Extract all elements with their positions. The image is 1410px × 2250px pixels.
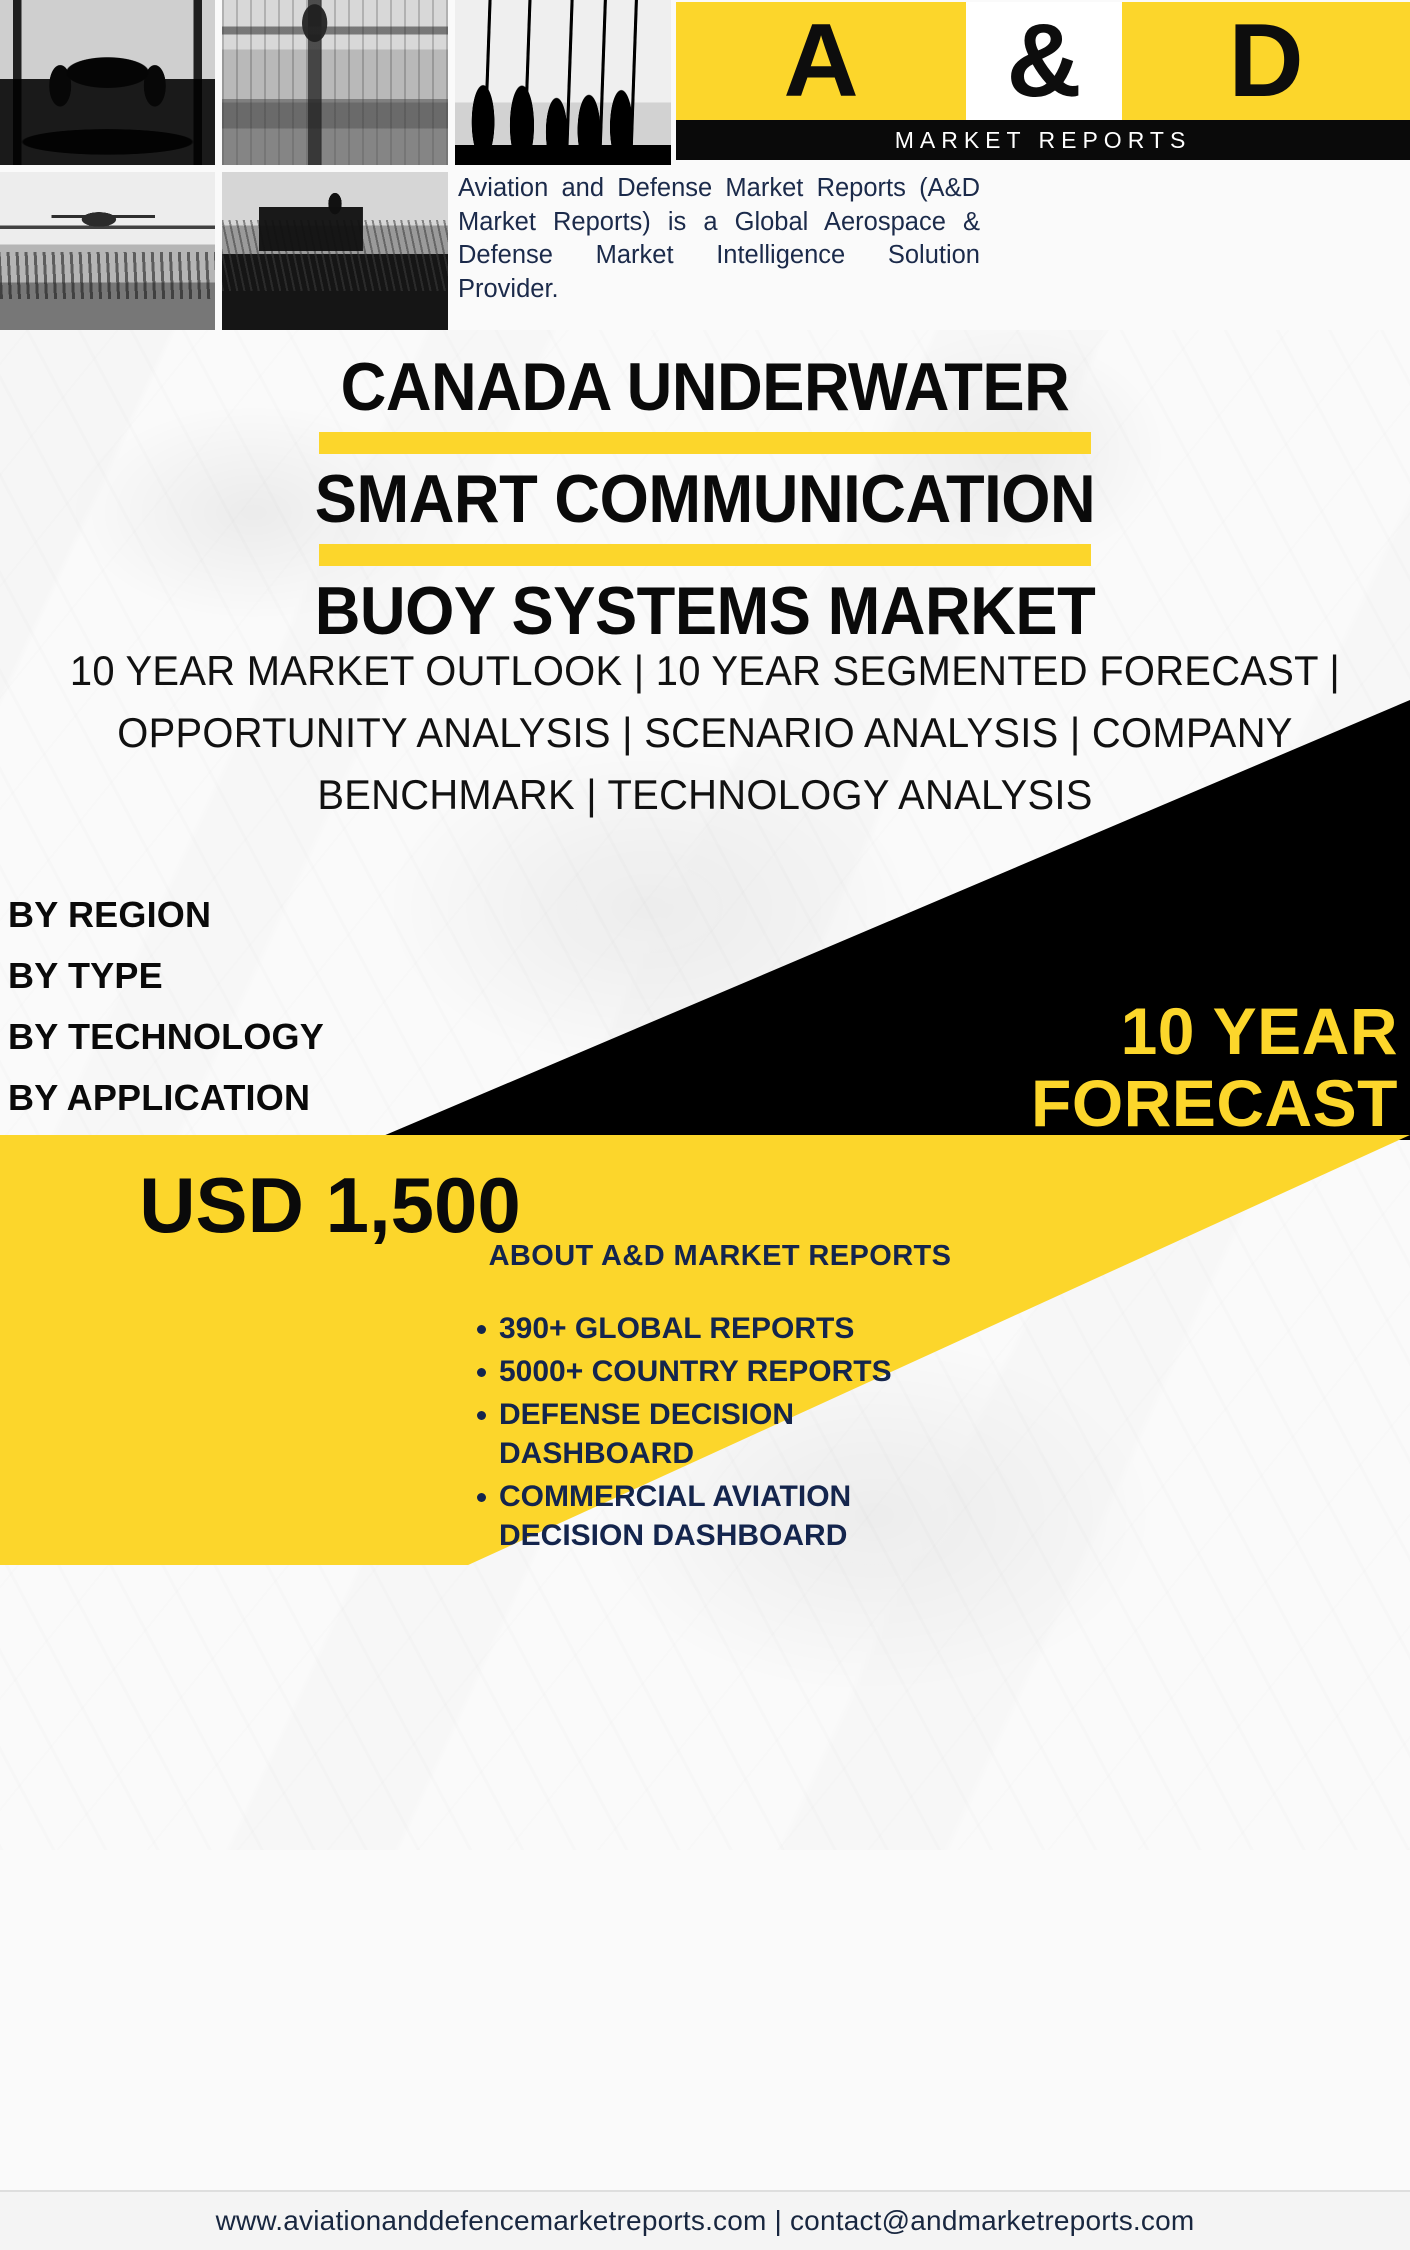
about-bullet-list: 390+ GLOBAL REPORTS 5000+ COUNTRY REPORT… bbox=[455, 1309, 985, 1555]
fighter-jet-photo bbox=[0, 0, 215, 165]
segment-item-region: BY REGION bbox=[8, 884, 324, 945]
about-heading: ABOUT A&D MARKET REPORTS bbox=[455, 1238, 985, 1274]
logo-tagline-bar: MARKET REPORTS bbox=[676, 120, 1410, 160]
logo-letter-blocks: A & D bbox=[676, 2, 1410, 120]
aircraft-carrier-photo bbox=[222, 0, 448, 165]
about-section: ABOUT A&D MARKET REPORTS 390+ GLOBAL REP… bbox=[455, 1238, 985, 1559]
soldiers-silhouette-photo bbox=[455, 0, 671, 165]
title-line-2: SMART COMMUNICATION bbox=[49, 462, 1360, 536]
title-divider-bar-1 bbox=[319, 432, 1091, 454]
header-image-strip: A & D MARKET REPORTS Aviation and Defens… bbox=[0, 0, 1410, 330]
title-line-1: CANADA UNDERWATER bbox=[49, 350, 1360, 424]
about-heading-underline bbox=[461, 1280, 977, 1287]
report-poster: A & D MARKET REPORTS Aviation and Defens… bbox=[0, 0, 1410, 2250]
company-description: Aviation and Defense Market Reports (A&D… bbox=[458, 172, 980, 306]
armored-vehicle-photo bbox=[222, 172, 448, 330]
title-line-3: BUOY SYSTEMS MARKET bbox=[49, 574, 1360, 648]
forecast-badge-line-1: 10 YEAR bbox=[838, 995, 1398, 1067]
segmentation-list: BY REGION BY TYPE BY TECHNOLOGY BY APPLI… bbox=[8, 884, 324, 1128]
logo-tagline: MARKET REPORTS bbox=[895, 127, 1192, 154]
report-title: CANADA UNDERWATER SMART COMMUNICATION BU… bbox=[0, 350, 1410, 648]
forecast-badge: 10 YEAR FORECAST bbox=[838, 995, 1398, 1139]
footer-contact-text: www.aviationanddefencemarketreports.com … bbox=[216, 2205, 1195, 2237]
logo-letter-a: A bbox=[676, 2, 966, 120]
title-divider-bar-2 bbox=[319, 544, 1091, 566]
forecast-badge-line-2: FORECAST bbox=[838, 1067, 1398, 1139]
helicopter-photo bbox=[0, 172, 215, 330]
footer-contact-bar: www.aviationanddefencemarketreports.com … bbox=[0, 2190, 1410, 2250]
about-bullet-defense-dashboard: DEFENSE DECISION DASHBOARD bbox=[499, 1395, 985, 1473]
logo-ampersand: & bbox=[966, 2, 1122, 120]
about-bullet-global-reports: 390+ GLOBAL REPORTS bbox=[499, 1309, 985, 1348]
logo-letter-d: D bbox=[1122, 2, 1410, 120]
about-bullet-commercial-dashboard: COMMERCIAL AVIATION DECISION DASHBOARD bbox=[499, 1477, 985, 1555]
segment-item-technology: BY TECHNOLOGY bbox=[8, 1006, 324, 1067]
segment-item-type: BY TYPE bbox=[8, 945, 324, 1006]
price-label: USD 1,500 bbox=[0, 1162, 660, 1248]
report-scope-subtitle: 10 YEAR MARKET OUTLOOK | 10 YEAR SEGMENT… bbox=[64, 640, 1347, 826]
about-bullet-country-reports: 5000+ COUNTRY REPORTS bbox=[499, 1352, 985, 1391]
ad-market-reports-logo: A & D MARKET REPORTS bbox=[676, 2, 1410, 162]
segment-item-application: BY APPLICATION bbox=[8, 1067, 324, 1128]
